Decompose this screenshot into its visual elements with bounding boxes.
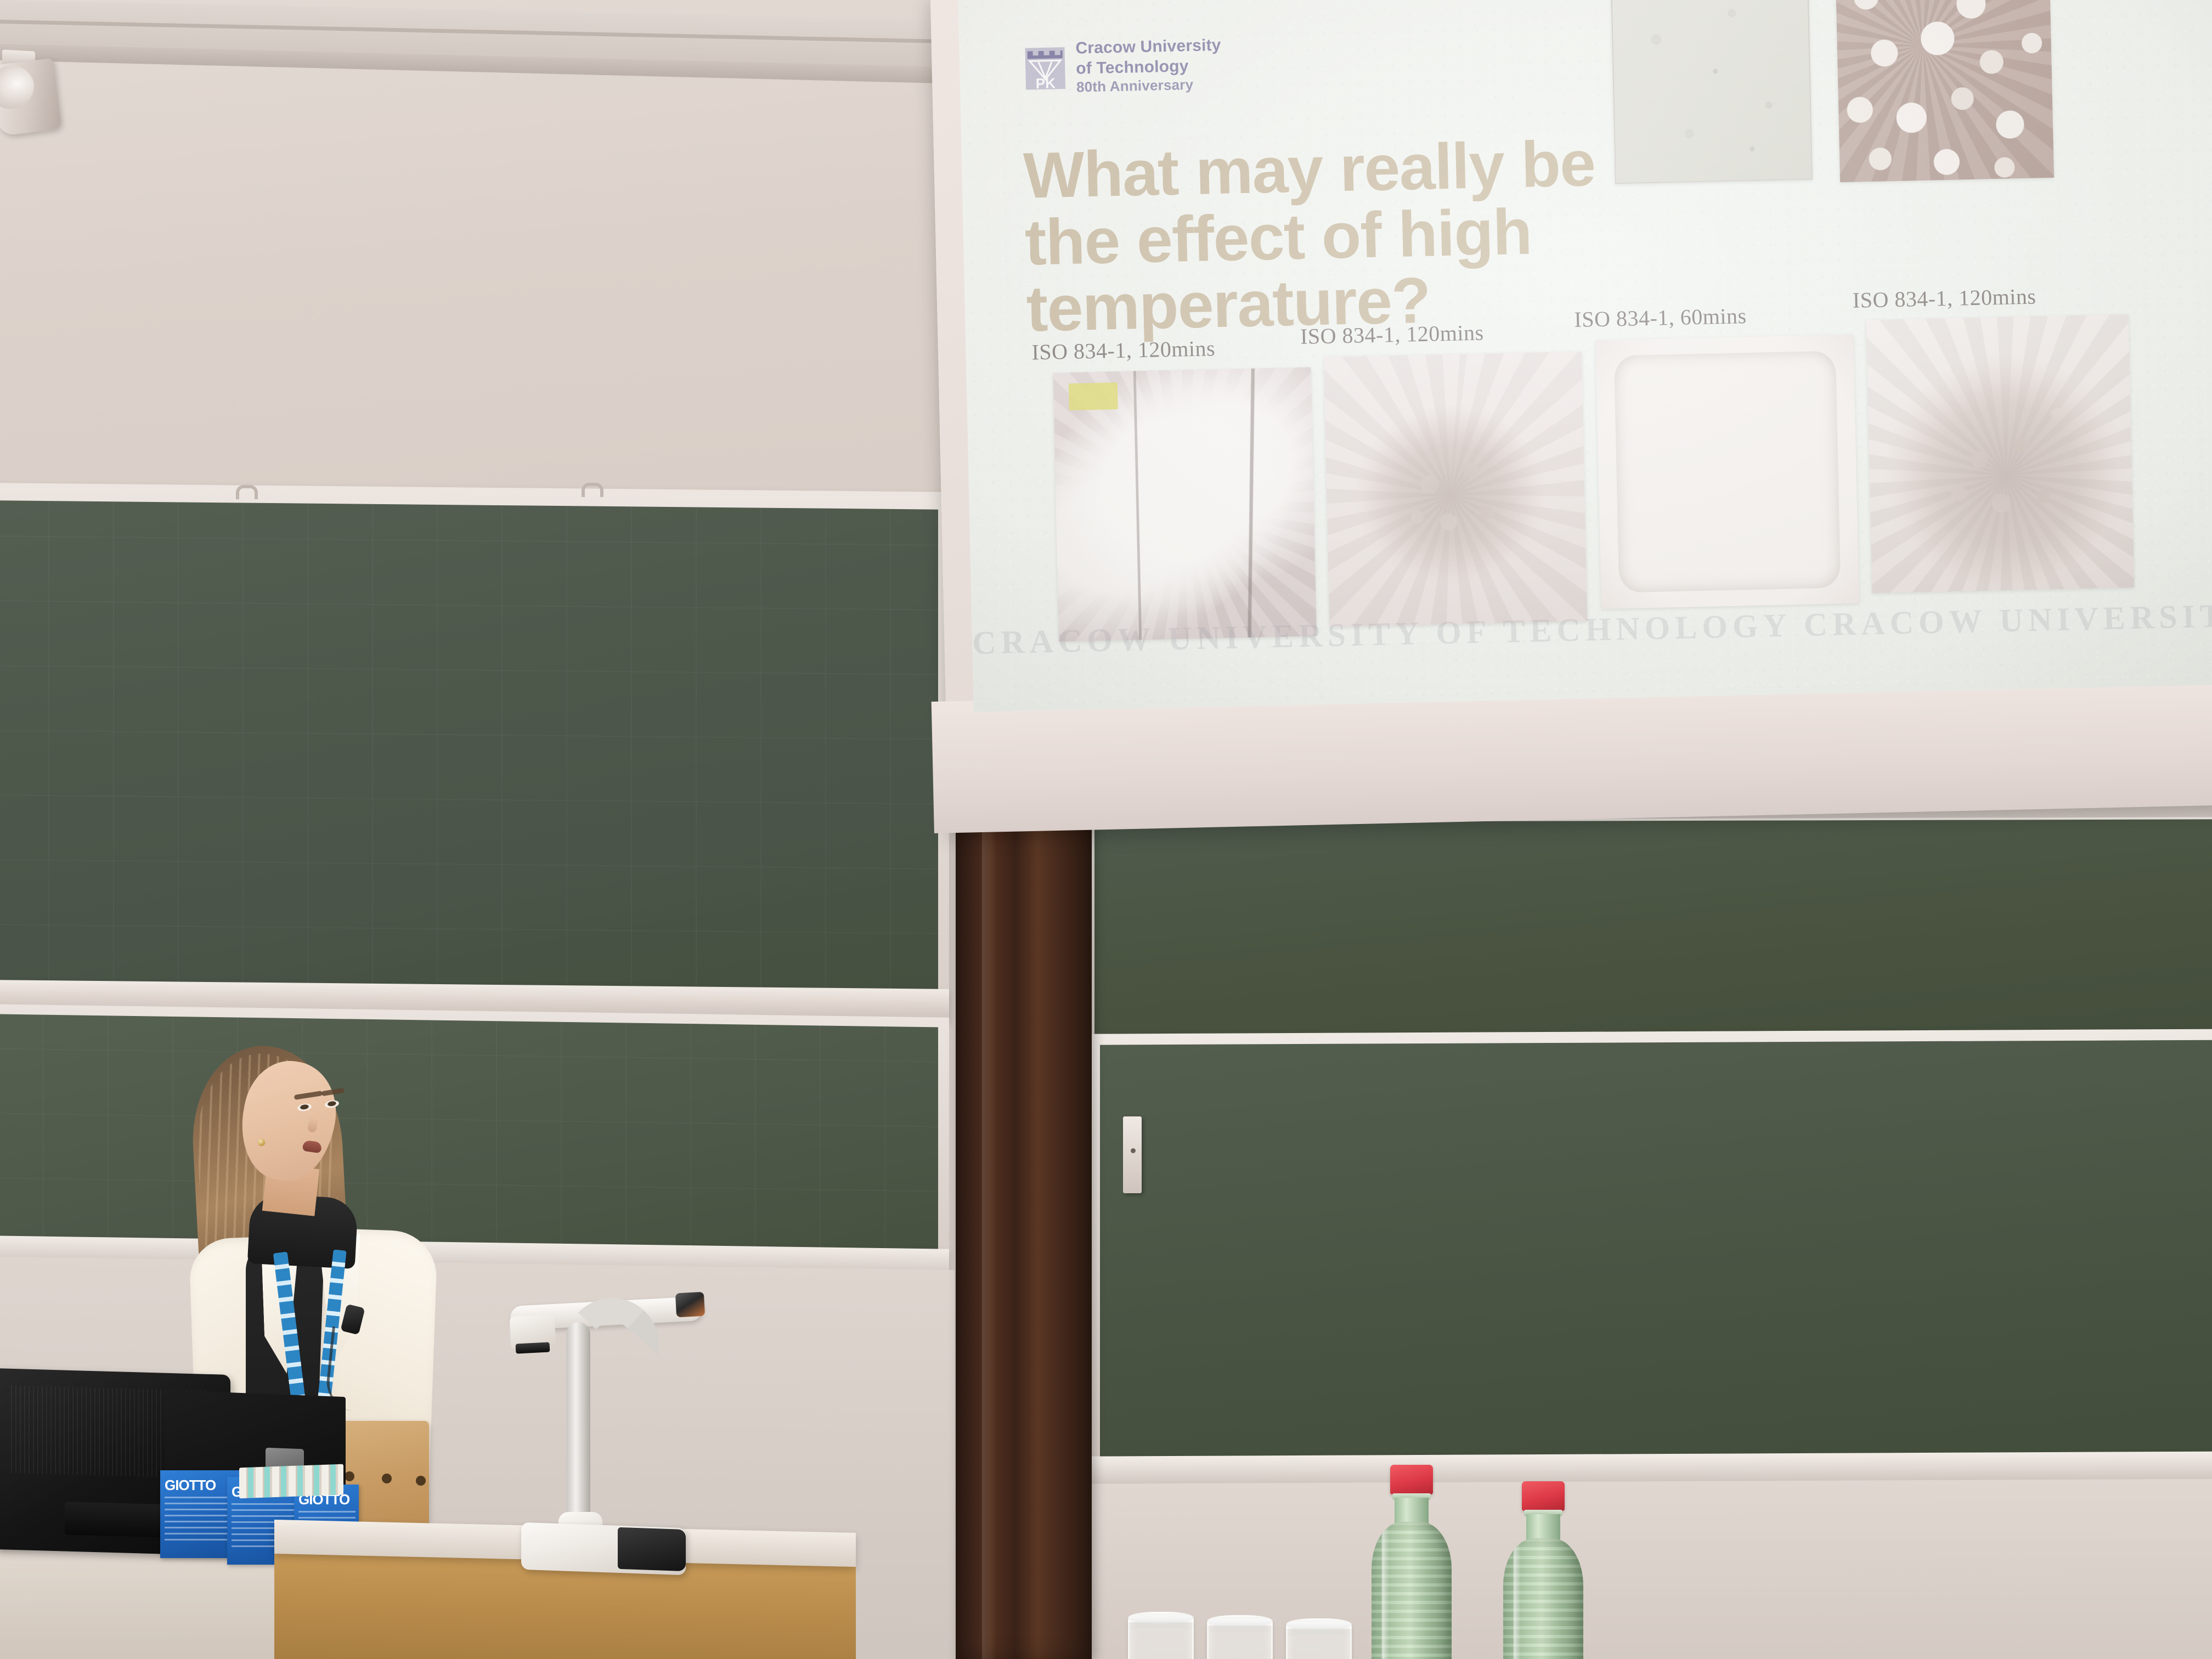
monitor-stand [65,1502,169,1537]
wooden-pillar [956,816,1092,1659]
bottle-body [1372,1522,1452,1659]
slide-title: What may really be the effect of high te… [1023,131,1609,343]
logo-line-2: of Technology [1076,55,1222,78]
chair-hole-icon [345,1471,354,1481]
document-camera-control-panel[interactable] [618,1527,686,1571]
document-camera-lens-icon [516,1342,550,1353]
chalk-box-text-lines [165,1497,237,1544]
logo-line-1: Cracow University [1075,36,1221,59]
sample-image-b2[interactable] [1324,352,1588,627]
chalkboard-left-upper [0,500,938,999]
sample-image-1000c[interactable] [1835,0,2054,182]
sample-image-b4[interactable] [1866,314,2135,593]
presenter-earring [258,1139,265,1146]
chair-hole-icon [382,1474,392,1483]
glass-rim [1286,1618,1352,1630]
sample-label-b1: ISO 834-1, 120mins [1031,335,1216,365]
bottle-body [1503,1538,1583,1659]
document-camera-lamp[interactable] [675,1292,705,1318]
pillar-highlight [982,816,996,1659]
sample-image-600c[interactable] [1611,0,1813,184]
university-logo-text: Cracow University of Technology 80th Ann… [1075,36,1222,97]
sample-label-b3: ISO 834-1, 60mins [1574,303,1747,332]
sample-label-b2: ISO 834-1, 120mins [1300,319,1485,349]
glass-rim [1128,1612,1194,1624]
eraser-screw-icon [1131,1148,1136,1153]
bottle-cap[interactable] [1522,1481,1565,1511]
logo-line-3: 80th Anniversary [1076,76,1222,96]
projection-screen[interactable]: PK Cracow University of Technology 80th … [958,0,2212,712]
chalkboard-hook [582,483,603,497]
chair-hole-icon [416,1476,426,1486]
document-camera-neck [566,1322,590,1525]
university-logo: PK Cracow University of Technology 80th … [1024,36,1222,98]
chalkboard-right-lower [1100,1040,2212,1462]
chalkboard-eraser[interactable] [1123,1116,1142,1193]
sample-image-b3[interactable] [1595,335,1859,609]
chalkboard-hook [236,485,258,499]
chalk-sticks[interactable] [239,1464,343,1499]
sample-label-sticker-icon [1069,382,1118,410]
svg-text:PK: PK [1035,75,1056,92]
bottle-cap[interactable] [1390,1465,1433,1494]
sample-image-b1[interactable] [1053,367,1317,641]
chalk-box-brand: GIOTTO [165,1477,216,1494]
glass-rim [1207,1615,1273,1627]
pk-crest-icon: PK [1024,44,1066,92]
sample-label-b4: ISO 834-1, 120mins [1852,284,2036,313]
chalkboard-right-upper [1094,819,2212,1042]
lecture-hall-photo: PK Cracow University of Technology 80th … [0,0,2212,1659]
chalkboard-left-lower [0,1014,938,1256]
